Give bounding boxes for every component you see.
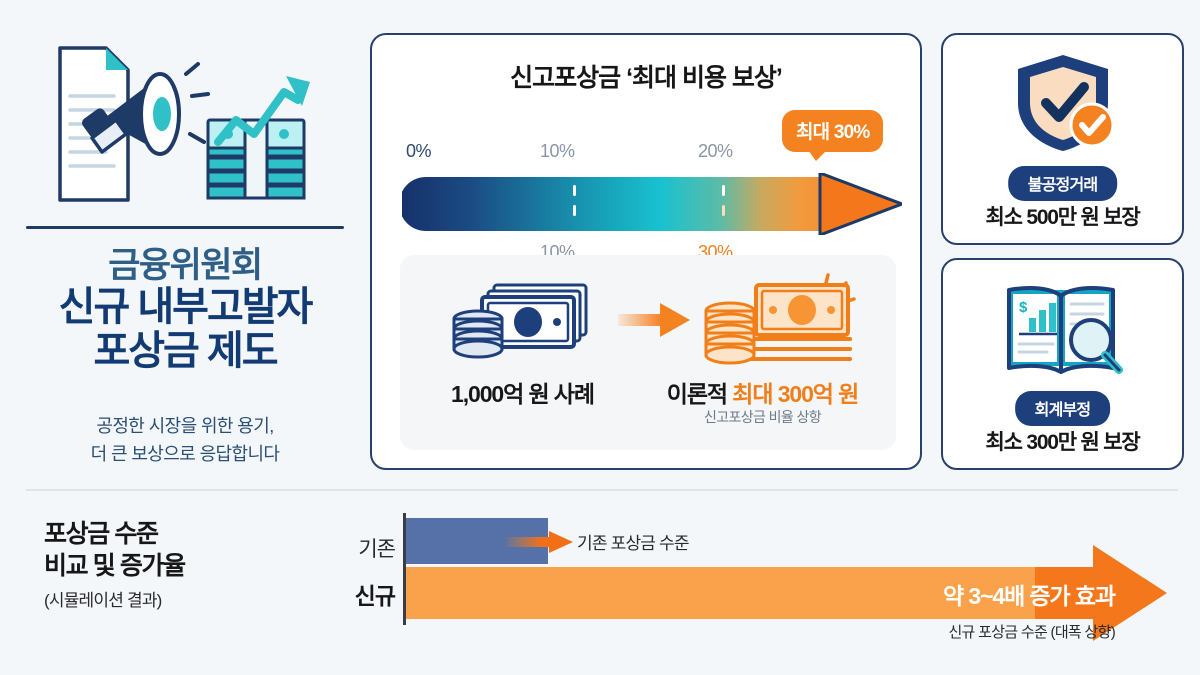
tick-label-0: 0%	[406, 141, 431, 162]
panel-title: 신고포상금 ‘최대 비용 보상’	[372, 58, 920, 94]
new-growth-note: 약 3~4배 증가 효과	[885, 577, 1115, 611]
example-right-prefix: 이론적	[667, 381, 732, 407]
brand-subtitle-line-1: 공정한 시장을 위한 용기,	[18, 413, 352, 441]
hero-underline	[26, 226, 344, 229]
scale-dash-20-upper	[722, 185, 725, 196]
reward-scale-panel: 신고포상금 ‘최대 비용 보상’ 0% 10% 20% 최대 30%	[370, 33, 922, 470]
open-book-magnifier-icon: $	[1003, 276, 1123, 385]
example-right-sublabel: 신고포상금 비율 상항	[640, 407, 885, 427]
scale-dash-10-upper	[573, 185, 576, 196]
tick-label-20: 20%	[698, 141, 733, 162]
example-calculation-box: 1,000억 원 사례 이론적 최대 300억 원 신고포상금 비율 상항	[400, 255, 896, 450]
example-left-label: 1,000억 원 사례	[420, 375, 625, 409]
new-reward-sublabel: 신규 포상금 수준 (대폭 상향)	[815, 621, 1115, 642]
example-right-label: 이론적 최대 300억 원	[640, 375, 885, 409]
infographic-root: 금융위원회 신규 내부고발자 포상금 제도 공정한 시장을 위한 용기, 더 큰…	[0, 0, 1200, 675]
tick-label-10: 10%	[540, 141, 575, 162]
program-title-line-1: 신규 내부고발자	[18, 285, 352, 329]
card-amount-unfair: 최소 500만 원 보장	[943, 201, 1182, 231]
org-name: 금융위원회	[18, 246, 352, 285]
navy-coins-and-bills-icon	[448, 277, 598, 365]
card-accounting-fraud[interactable]: $ 회계부정	[941, 258, 1184, 470]
scale-dash-10-lower	[573, 205, 576, 216]
max-rate-badge: 최대 30%	[782, 110, 883, 152]
shield-check-icon	[1008, 51, 1118, 160]
category-label-old: 기존	[345, 533, 395, 563]
money-illustration-row	[400, 271, 896, 367]
comparison-heading-sub: (시뮬레이션 결과)	[44, 586, 344, 611]
program-title-line-2: 포상금 제도	[18, 329, 352, 373]
comparison-heading-block: 포상금 수준 비교 및 증가율 (시뮬레이션 결과)	[44, 518, 344, 611]
card-amount-accounting: 최소 300만 원 보장	[943, 426, 1182, 456]
section-divider	[26, 489, 1178, 491]
category-label-new: 신규	[345, 577, 395, 611]
card-badge-unfair: 불공정거래	[1008, 166, 1118, 201]
card-unfair-trading[interactable]: 불공정거래 최소 500만 원 보장	[941, 33, 1184, 245]
comparison-heading-line-1: 포상금 수준	[44, 518, 344, 550]
old-pointer-arrow-icon	[505, 531, 573, 553]
document-megaphone-money-growth-illustration	[40, 34, 330, 219]
comparison-heading-line-2: 비교 및 증가율	[44, 550, 344, 582]
brand-title-block: 금융위원회 신규 내부고발자 포상금 제도	[18, 246, 352, 373]
right-arrow-icon	[618, 303, 690, 337]
card-badge-accounting: 회계부정	[1015, 391, 1111, 426]
comparison-bar-chart: 기존 신규 기존 포상금 수준 약 3~4배 증가 효과 신규 포상금 수준 (	[345, 505, 1185, 645]
example-right-highlight: 최대 300억 원	[732, 381, 858, 407]
brand-subtitle-block: 공정한 시장을 위한 용기, 더 큰 보상으로 응답합니다	[18, 413, 352, 469]
brand-subtitle-line-2: 더 큰 보상으로 응답합니다	[18, 441, 352, 469]
scale-dash-20-lower	[722, 205, 725, 216]
brand-column: 금융위원회 신규 내부고발자 포상금 제도 공정한 시장을 위한 용기, 더 큰…	[18, 28, 352, 468]
old-reward-note: 기존 포상금 수준	[577, 529, 689, 554]
reward-gradient-arrow	[402, 173, 902, 235]
svg-text:$: $	[1019, 299, 1028, 316]
orange-coins-and-bills-icon	[700, 271, 860, 371]
